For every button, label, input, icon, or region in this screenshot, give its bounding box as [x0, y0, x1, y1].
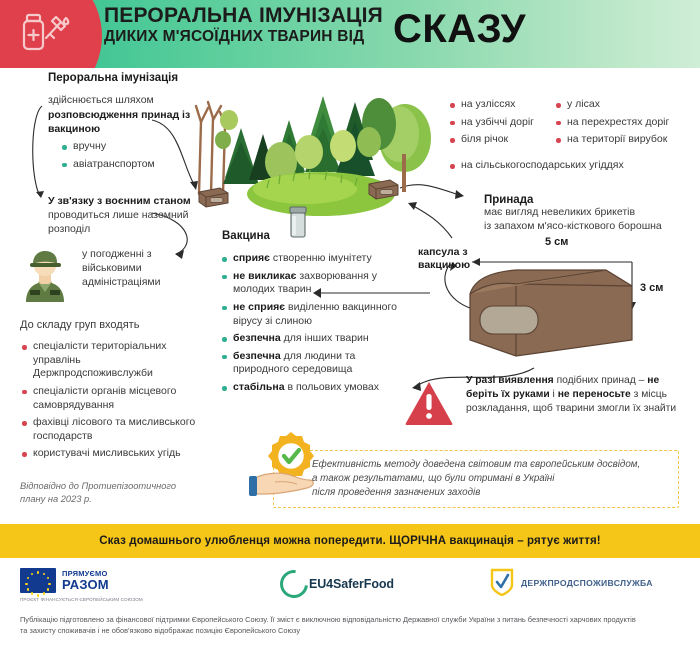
- header-title-line1: ПЕРОРАЛЬНА ІМУНІЗАЦІЯ: [104, 5, 383, 26]
- list-item: на узбіччі доріг: [450, 116, 558, 130]
- warning-text: У разі виявлення подібних принад – не бе…: [466, 374, 694, 416]
- pet-vaccination-banner: Сказ домашнього улюбленця можна попереди…: [0, 524, 700, 558]
- list-item: на сільськогосподарських угіддях: [450, 159, 690, 173]
- gov-service-text: ДЕРЖПРОДСПОЖИВСЛУЖБА: [521, 578, 653, 588]
- locations-column-1: на узліссях на узбіччі доріг біля річок: [450, 98, 558, 151]
- eu4saferfood-text: EU4SaferFood: [309, 577, 394, 591]
- vaccine-heading: Вакцина: [222, 230, 270, 242]
- bait-description: Принада має вигляд невеликих брикетів із…: [484, 194, 700, 234]
- list-item: безпечна для інших тварин: [222, 332, 400, 346]
- main-content: Пероральна імунізація здійснюється шляхо…: [0, 68, 700, 520]
- shield-check-icon: [490, 568, 514, 597]
- efficacy-line3: після проведення зазначених заходів: [312, 486, 668, 500]
- prop-bold: безпечна: [233, 332, 281, 344]
- footer-disclaimer: Публікацію підготовлено за фінансової пі…: [20, 614, 684, 636]
- prop-rest: для інших тварин: [281, 332, 369, 344]
- vaccine-properties-list: сприяє створенню імунітету не викликає з…: [222, 252, 400, 399]
- bait-briquette-icon-left: [196, 186, 230, 208]
- header-title-line2: ДИКИХ М'ЯСОЇДНИХ ТВАРИН ВІД: [104, 29, 383, 45]
- prop-bold: безпечна: [233, 350, 281, 362]
- eu4saferfood-icon: [274, 564, 313, 603]
- bait-briquette-icon-right: [366, 178, 400, 200]
- list-item: стабільна в польових умовах: [222, 381, 400, 395]
- bait-text-line2: із запахом м'ясо-кісткового борошна: [484, 220, 700, 234]
- disclaimer-line1: Публікацію підготовлено за фінансової пі…: [20, 614, 684, 625]
- list-item: безпечна для людини та природного середо…: [222, 350, 400, 377]
- prop-rest: в польових умовах: [285, 381, 380, 393]
- header-banner: ПЕРОРАЛЬНА ІМУНІЗАЦІЯ ДИКИХ М'ЯСОЇДНИХ Т…: [0, 0, 700, 68]
- bait-text-line1: має вигляд невеликих брикетів: [484, 206, 700, 220]
- warning-plain-2: і: [550, 389, 558, 400]
- list-item: спеціалісти територіальних управлінь Дер…: [22, 340, 198, 381]
- disclaimer-line2: та захисту споживачів і не обов'язково в…: [20, 625, 684, 636]
- groups-heading: До складу груп входять: [20, 318, 220, 333]
- list-item: фахівці лісового та мисливського господа…: [22, 416, 198, 443]
- warning-bold-1: У разі виявлення: [466, 375, 554, 386]
- list-item: сприяє створенню імунітету: [222, 252, 400, 266]
- list-item: біля річок: [450, 133, 558, 147]
- warning-plain-1: подібних принад –: [554, 375, 648, 386]
- list-item: на території вирубок: [556, 133, 696, 147]
- prop-rest: створенню імунітету: [270, 252, 372, 264]
- prop-bold: сприяє: [233, 252, 270, 264]
- prop-bold: стабільна: [233, 381, 285, 393]
- banner-text: Сказ домашнього улюбленця можна попереди…: [99, 535, 600, 547]
- bait-dim-height: 3 см: [640, 282, 663, 294]
- locations-wide: на сільськогосподарських угіддях: [450, 159, 690, 177]
- eu-logo: ПРЯМУЄМО РАЗОМ: [20, 568, 109, 593]
- bait-heading: Принада: [484, 194, 700, 206]
- bait-dim-width: 5 см: [545, 236, 568, 248]
- plan-footnote: Відповідно до Протиепізоотичного плану н…: [20, 480, 200, 506]
- efficacy-text: Ефективність методу доведена світовим та…: [312, 458, 668, 501]
- list-item: спеціалісти органів місцевого самоврядув…: [22, 385, 198, 412]
- eu-logo-subtext: ПРОЄКТ ФІНАНСУЄТЬСЯ ЄВРОПЕЙСЬКИМ СОЮЗОМ: [20, 597, 143, 602]
- warning-bold-3: не переносьте: [558, 389, 631, 400]
- eu-flag-icon: [20, 568, 56, 593]
- locations-column-2: у лісах на перехрестях доріг на територі…: [556, 98, 696, 151]
- header-title: ПЕРОРАЛЬНА ІМУНІЗАЦІЯ ДИКИХ М'ЯСОЇДНИХ Т…: [104, 5, 526, 49]
- martial-law-text: проводиться лише наземний розподіл: [48, 209, 218, 237]
- gov-service-logo: ДЕРЖПРОДСПОЖИВСЛУЖБА: [490, 568, 653, 597]
- list-item: користувачі мисливських угідь: [22, 447, 198, 461]
- prop-bold: не сприяє: [233, 301, 285, 313]
- military-administration-note: у погодженні з військовими адміністрація…: [82, 248, 178, 290]
- prop-bold: не викликає: [233, 270, 296, 282]
- bait-capsule-diagram: [456, 248, 666, 373]
- warning-triangle-icon: [404, 380, 454, 426]
- list-item: на перехрестях доріг: [556, 116, 696, 130]
- list-item: не сприяє виділенню вакцинного вірусу зі…: [222, 301, 400, 328]
- groups-list: спеціалісти територіальних управлінь Дер…: [22, 340, 198, 465]
- footer: ПРЯМУЄМО РАЗОМ ПРОЄКТ ФІНАНСУЄТЬСЯ ЄВРОП…: [0, 558, 700, 649]
- infographic-page: ПЕРОРАЛЬНА ІМУНІЗАЦІЯ ДИКИХ М'ЯСОЇДНИХ Т…: [0, 0, 700, 649]
- vaccine-bottle-syringe-icon: [12, 8, 74, 60]
- efficacy-line2: а також результатами, що були отримані в…: [312, 472, 668, 486]
- list-item: не викликає захворювання у молодих твари…: [222, 270, 400, 297]
- vaccine-jar-icon: [287, 205, 309, 239]
- header-title-big: СКАЗУ: [393, 10, 526, 48]
- eu4saferfood-logo: EU4SaferFood: [280, 570, 394, 598]
- eu-logo-word2: РАЗОМ: [62, 578, 109, 591]
- list-item: на узліссях: [450, 98, 558, 112]
- soldier-avatar-icon: [16, 244, 74, 302]
- list-item: у лісах: [556, 98, 696, 112]
- efficacy-line1: Ефективність методу доведена світовим та…: [312, 458, 668, 472]
